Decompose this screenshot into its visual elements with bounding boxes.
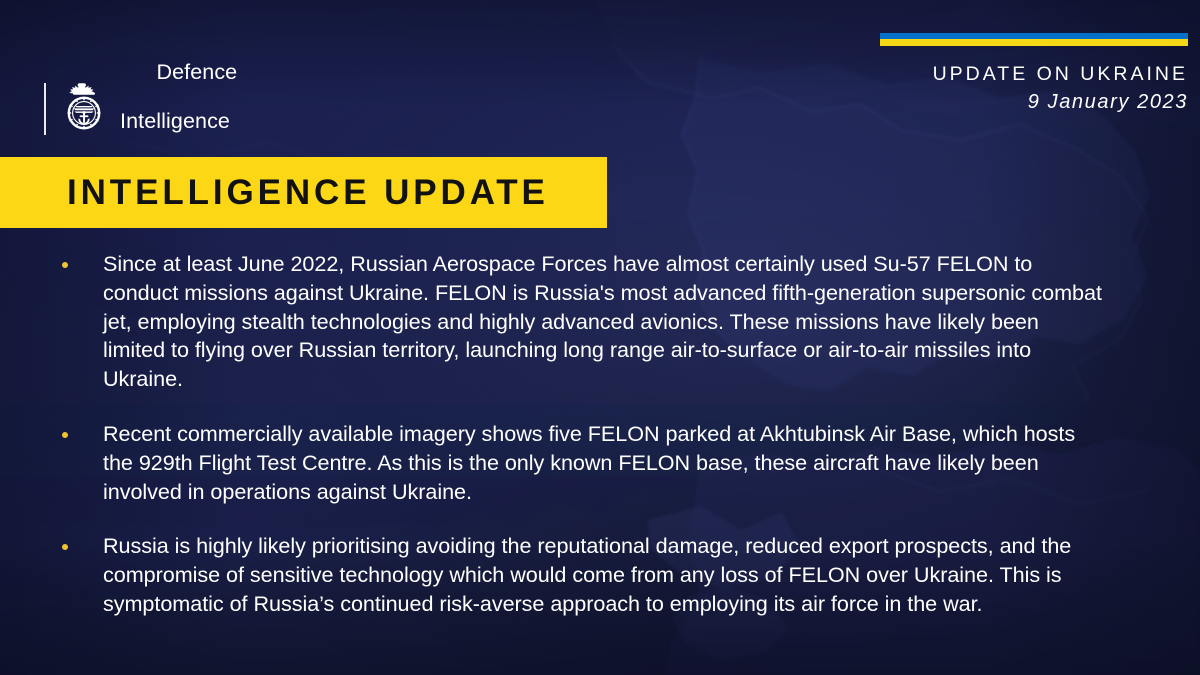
mod-crest-icon <box>61 82 107 136</box>
banner-title: INTELLIGENCE UPDATE <box>0 173 549 213</box>
intelligence-update-slide: Defence Intelligence UPDATE ON UKRAINE 9… <box>0 0 1200 675</box>
ukraine-flag-bar-icon <box>880 33 1188 46</box>
intelligence-update-banner: INTELLIGENCE UPDATE <box>0 157 607 228</box>
flag-yellow-stripe <box>880 39 1188 46</box>
brand-line-defence: Defence <box>156 60 237 84</box>
bullet-list: Since at least June 2022, Russian Aerosp… <box>62 250 1152 619</box>
bullet-paragraph-1: Since at least June 2022, Russian Aerosp… <box>103 250 1103 394</box>
update-on-ukraine-label: UPDATE ON UKRAINE <box>880 63 1188 86</box>
list-item: Russia is highly likely prioritising avo… <box>62 532 1152 618</box>
bullet-paragraph-2: Recent commercially available imagery sh… <box>103 420 1103 506</box>
brand-divider-rule <box>44 83 46 135</box>
bullet-paragraph-3: Russia is highly likely prioritising avo… <box>103 532 1103 618</box>
bullet-dot-icon <box>62 262 68 268</box>
bullet-dot-icon <box>62 432 68 438</box>
update-date: 9 January 2023 <box>880 91 1188 114</box>
list-item: Recent commercially available imagery sh… <box>62 420 1152 506</box>
update-header-block: UPDATE ON UKRAINE 9 January 2023 <box>880 33 1188 114</box>
brand-line-intelligence: Intelligence <box>120 109 237 133</box>
list-item: Since at least June 2022, Russian Aerosp… <box>62 250 1152 394</box>
bullet-dot-icon <box>62 544 68 550</box>
